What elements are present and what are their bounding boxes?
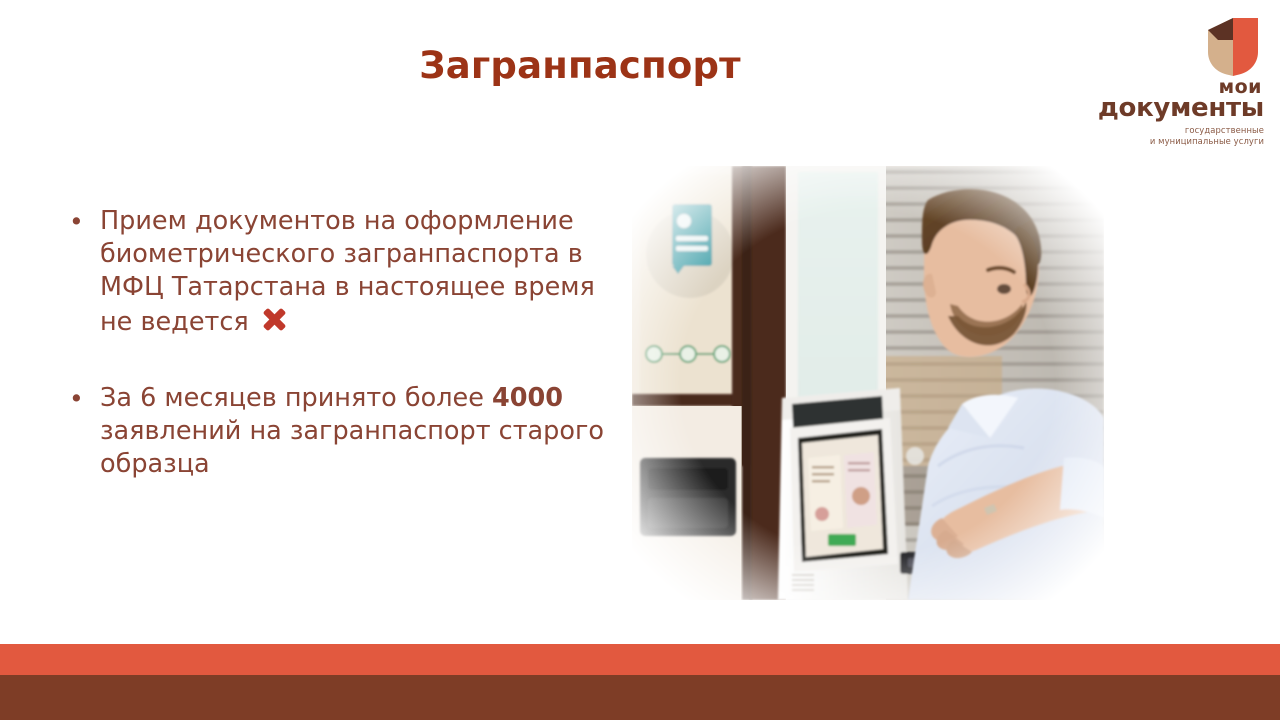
footer-bar: [0, 675, 1280, 720]
shield-folder-mark-icon: [1204, 16, 1262, 78]
bullet-list: • Прием документов на оформление биометр…: [60, 205, 620, 481]
brand-logo: мои документы государственные и муниципа…: [1096, 16, 1264, 138]
list-item: • За 6 месяцев принято более 4000 заявле…: [60, 382, 620, 481]
page-title: Загранпаспорт: [180, 46, 980, 87]
bullet-text-2-after: заявлений на загранпаспорт старого образ…: [100, 416, 604, 479]
bullet-text-2-before: За 6 месяцев принято более: [100, 383, 492, 413]
bullet-marker: •: [69, 383, 84, 416]
brand-tagline: государственные и муниципальные услуги: [1096, 125, 1264, 147]
bullet-marker: •: [69, 206, 84, 239]
footer-accent-bar: [0, 644, 1280, 675]
bullet-text-1: Прием документов на оформление биометрич…: [100, 206, 595, 337]
brand-tagline-line-1: государственные: [1096, 125, 1264, 136]
kiosk-photo: [632, 166, 1104, 600]
brand-tagline-line-2: и муниципальные услуги: [1096, 136, 1264, 147]
slide-canvas: Загранпаспорт мои документы государствен…: [0, 0, 1280, 720]
brand-line-dokumenty: документы: [1096, 95, 1264, 122]
brand-logo-text: мои документы государственные и муниципа…: [1096, 78, 1264, 147]
red-x-mark-icon: [259, 304, 290, 335]
list-item: • Прием документов на оформление биометр…: [60, 205, 620, 340]
bullet-highlight-count: 4000: [492, 383, 563, 413]
